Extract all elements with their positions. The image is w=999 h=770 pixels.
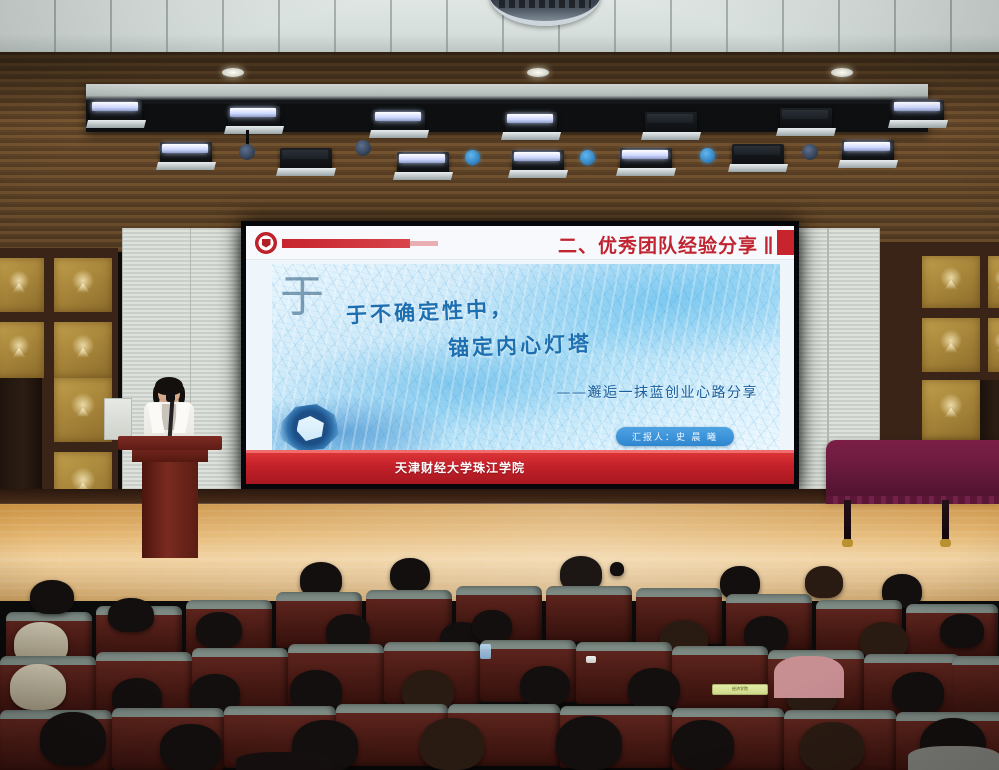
tufted-panel: [988, 318, 999, 372]
audience-head: [628, 668, 680, 710]
tufted-panel: [922, 318, 980, 372]
spotlight-lens: [92, 102, 138, 111]
slide-section-title: 二、优秀团队经验分享: [558, 231, 758, 258]
presenter-at-podium: [132, 380, 206, 442]
audience-head: [672, 720, 734, 770]
header-red-block: [777, 230, 794, 255]
spotlight-icon: [505, 112, 557, 136]
spotlight-icon: [280, 148, 332, 172]
tufted-panel: [922, 380, 980, 440]
organization-name: 天津财经大学珠江学院: [395, 459, 525, 476]
slide-footer: 天津财经大学珠江学院: [246, 450, 794, 484]
audience-head: [556, 716, 622, 770]
par-lamp-icon: [239, 144, 255, 160]
wooden-podium: [118, 436, 222, 558]
audience-shoulders: [774, 656, 844, 698]
spotlight-icon: [512, 150, 564, 174]
slide-title-line-2: 锚定内心灯塔: [448, 327, 593, 362]
podium-column: [142, 462, 198, 558]
spotlight-icon: [397, 152, 449, 176]
spotlight-icon: [842, 140, 894, 164]
projection-screen-frame: 二、优秀团队经验分享 || 于 于不确定性中， 锚定内心灯塔 ——邂逅一抹蓝创业…: [241, 221, 799, 489]
spotlight-lens: [162, 144, 208, 153]
spotlight-icon: [645, 112, 697, 136]
spotlight-lens: [782, 110, 828, 119]
spotlight-barndoor: [616, 168, 676, 176]
mirror-reflected-equipment: [499, 0, 591, 8]
wall-control-box[interactable]: [104, 398, 132, 440]
spotlight-barndoor: [508, 170, 568, 178]
spotlight-icon: [373, 110, 425, 134]
audience-head: [805, 566, 843, 598]
blue-lamp-icon: [465, 150, 480, 165]
spotlight-barndoor: [224, 126, 284, 134]
par-lamp-icon: [355, 140, 371, 156]
spotlight-icon: [90, 100, 142, 124]
blue-lamp-icon: [700, 148, 715, 163]
spotlight-lens: [399, 154, 445, 163]
grand-piano-covered: [826, 440, 999, 560]
tufted-panel: [922, 256, 980, 308]
header-accent-bar: [282, 239, 410, 248]
spotlight-lens: [282, 150, 328, 159]
spotlight-barndoor: [369, 130, 429, 138]
spotlight-lens: [514, 152, 560, 161]
piano-leg: [942, 500, 949, 540]
tufted-panel: [54, 258, 112, 312]
piano-cover-cloth: [826, 440, 999, 498]
phone-screen: [480, 644, 491, 659]
slide-subtitle: ——邂逅一抹蓝创业心路分享: [557, 382, 759, 402]
audience-head: [472, 610, 512, 642]
audience-head: [892, 672, 944, 714]
audience-head: [160, 724, 222, 770]
spotlight-barndoor: [393, 172, 453, 180]
paper-cup: [586, 656, 596, 663]
spotlight-barndoor: [888, 120, 948, 128]
spotlight-lens: [622, 150, 668, 159]
audience-area: 经济学院: [0, 560, 999, 770]
spotlight-lens: [844, 142, 890, 151]
footer-top-highlight: [246, 450, 794, 453]
audience-head: [940, 614, 984, 648]
header-accent-bar-pale: [410, 241, 438, 246]
spotlight-icon: [780, 108, 832, 132]
microphone-capsule: [166, 390, 175, 402]
seal-emblem: [262, 239, 271, 248]
piano-caster: [842, 539, 853, 547]
spotlight-icon: [732, 144, 784, 168]
presenter-badge: 汇报人：史 晨 曦: [616, 427, 734, 446]
audience-head: [10, 664, 66, 710]
slide-header: 二、优秀团队经验分享 ||: [246, 226, 794, 260]
presentation-slide[interactable]: 二、优秀团队经验分享 || 于 于不确定性中， 锚定内心灯塔 ——邂逅一抹蓝创业…: [246, 226, 794, 484]
tufted-panel: [0, 322, 44, 378]
piano-leg: [844, 500, 851, 540]
audience-head: [420, 718, 484, 770]
seat-section-tag: 经济学院: [712, 684, 768, 695]
downlight-icon: [527, 68, 549, 77]
spotlight-barndoor: [641, 132, 701, 140]
seat[interactable]: [672, 646, 768, 708]
tufted-panel: [0, 258, 44, 312]
spotlight-icon: [228, 106, 280, 130]
header-pipes-decor: ||: [764, 234, 772, 255]
audience-head: [40, 712, 106, 766]
tufted-panel: [54, 322, 112, 378]
spotlight-icon: [160, 142, 212, 166]
spotlight-barndoor: [728, 164, 788, 172]
acoustic-wall-column: [798, 228, 828, 528]
watermark-character: 于: [280, 264, 324, 324]
spotlight-icon: [892, 100, 944, 124]
blue-lamp-icon: [580, 150, 595, 165]
par-lamp-icon: [802, 144, 818, 160]
audience-head: [610, 562, 624, 576]
spotlight-barndoor: [776, 128, 836, 136]
audience-head: [390, 558, 430, 592]
seat[interactable]: [546, 586, 632, 642]
audience-head: [800, 722, 864, 770]
spotlight-lens: [230, 108, 276, 117]
spotlight-barndoor: [276, 168, 336, 176]
spotlight-lens: [507, 114, 553, 123]
audience-shoulders: [908, 746, 999, 770]
tufted-panel: [988, 256, 999, 308]
auditorium-scene: 二、优秀团队经验分享 || 于 于不确定性中， 锚定内心灯塔 ——邂逅一抹蓝创业…: [0, 0, 999, 770]
slide-artwork: 于 于不确定性中， 锚定内心灯塔 ——邂逅一抹蓝创业心路分享 汇报人：史 晨 曦: [272, 264, 780, 456]
audience-shoulders: [236, 752, 332, 770]
spotlight-lens: [375, 112, 421, 121]
spotlight-barndoor: [86, 120, 146, 128]
slide-body: 于 于不确定性中， 锚定内心灯塔 ——邂逅一抹蓝创业心路分享 汇报人：史 晨 曦: [246, 260, 794, 460]
podium-neck: [132, 450, 208, 462]
spotlight-lens: [647, 114, 693, 123]
broken-ice-hole-icon: [278, 402, 340, 452]
downlight-icon: [831, 68, 853, 77]
spotlight-barndoor: [501, 132, 561, 140]
university-seal-icon: [255, 232, 277, 254]
spotlight-barndoor: [156, 162, 216, 170]
audience-head: [520, 666, 570, 706]
piano-caster: [940, 539, 951, 547]
downlight-icon: [222, 68, 244, 77]
seat[interactable]: [952, 656, 999, 718]
audience-head: [30, 580, 74, 614]
audience-head: [196, 612, 242, 648]
podium-top-surface: [118, 436, 222, 450]
spotlight-lens: [734, 146, 780, 155]
spotlight-icon: [620, 148, 672, 172]
audience-head: [108, 598, 154, 632]
spotlight-barndoor: [838, 160, 898, 168]
spotlight-lens: [894, 102, 940, 111]
